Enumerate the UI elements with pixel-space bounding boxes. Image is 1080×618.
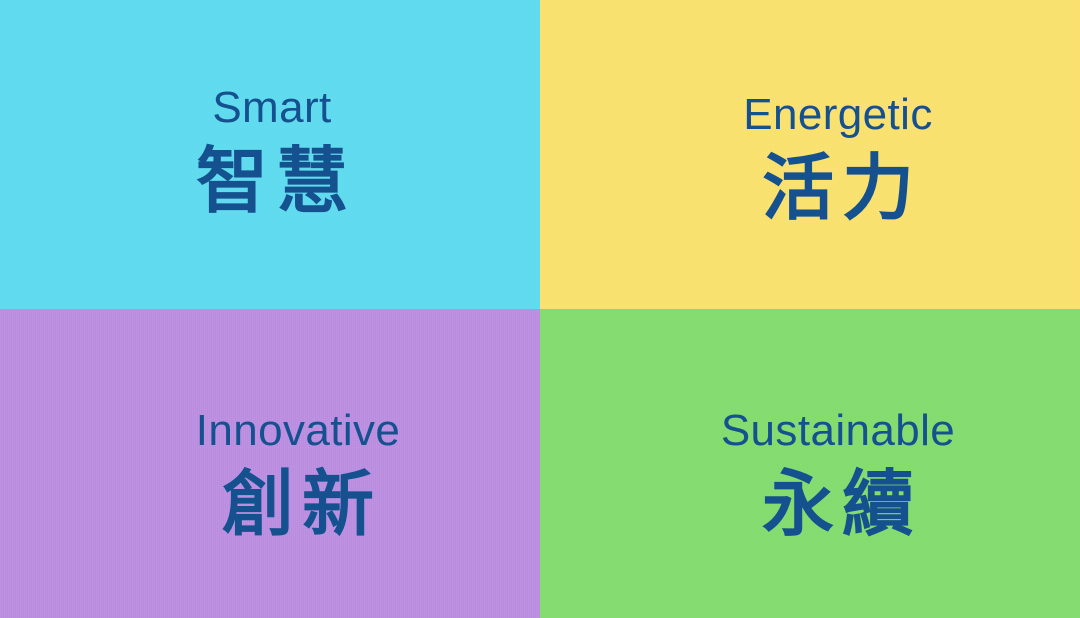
quadrant-smart-label-zh: 智慧 bbox=[188, 144, 356, 220]
quadrant-innovative-label-en: Innovative bbox=[196, 409, 401, 453]
brand-values-quadrant-grid: Smart 智慧 Energetic 活力 Innovative 創新 Sust… bbox=[0, 0, 1080, 618]
quadrant-energetic-text-stack: Energetic 活力 bbox=[743, 93, 932, 227]
quadrant-energetic-label-en: Energetic bbox=[743, 93, 932, 137]
quadrant-smart: Smart 智慧 bbox=[0, 0, 540, 309]
quadrant-sustainable-label-zh: 永續 bbox=[754, 467, 922, 543]
quadrant-sustainable: Sustainable 永續 bbox=[540, 309, 1080, 618]
quadrant-energetic: Energetic 活力 bbox=[540, 0, 1080, 309]
quadrant-sustainable-text-stack: Sustainable 永續 bbox=[721, 409, 955, 543]
quadrant-innovative: Innovative 創新 bbox=[0, 309, 540, 618]
quadrant-energetic-label-zh: 活力 bbox=[754, 151, 922, 227]
quadrant-smart-text-stack: Smart 智慧 bbox=[188, 86, 356, 220]
quadrant-smart-label-en: Smart bbox=[212, 86, 331, 130]
quadrant-innovative-label-zh: 創新 bbox=[214, 467, 382, 543]
quadrant-innovative-text-stack: Innovative 創新 bbox=[196, 409, 401, 543]
quadrant-sustainable-label-en: Sustainable bbox=[721, 409, 955, 453]
